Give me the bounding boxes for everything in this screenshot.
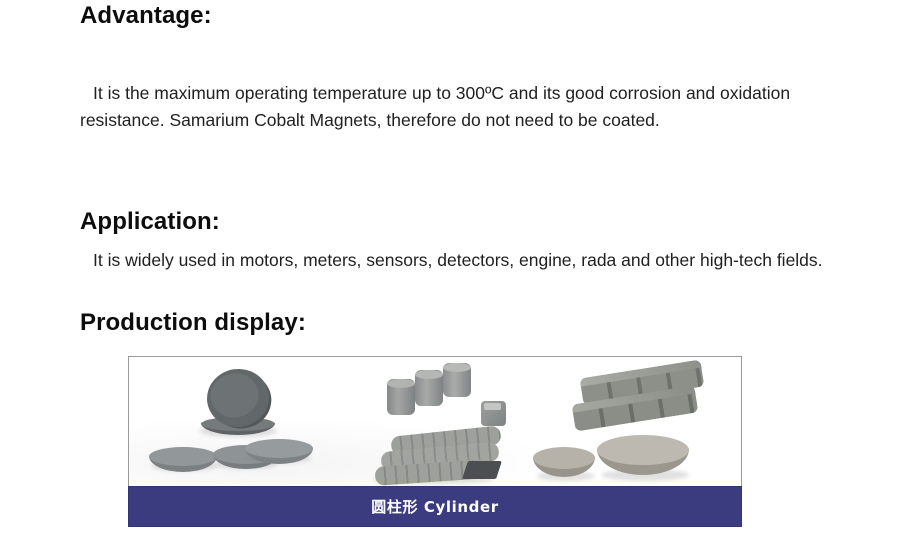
cylinder-row-highlight [580,360,702,387]
small-cylinder-3 [443,363,471,397]
product-figure: 圆柱形 Cylinder [128,356,742,527]
cylinder-top-face [415,370,443,379]
disc-top [533,447,595,469]
disc-top [149,447,217,466]
magnet-disc-1 [149,447,217,475]
small-cylinder-1-body [387,379,415,415]
dark-wedge [462,461,502,479]
disc-top [245,439,313,458]
small-cylinder-2 [415,370,443,406]
magnet-block [481,401,506,426]
photo-background [129,357,741,486]
cylinder-top-face [387,379,415,388]
magnet-small-disc [533,447,595,481]
disc-top [597,435,689,465]
section-heading-advantage: Advantage: [80,2,212,30]
section-heading-application: Application: [80,208,220,236]
product-photo [128,356,742,486]
section-body-advantage: It is the maximum operating temperature … [80,80,828,134]
cylinder-top-face [443,363,471,372]
advantage-text: It is the maximum operating temperature … [80,83,790,130]
magnet-disc-3 [245,439,313,467]
document-page: Advantage: It is the maximum operating t… [0,0,910,543]
figure-caption-text: 圆柱形 Cylinder [371,496,498,517]
disc-face-highlight [208,370,262,420]
figure-caption-bar: 圆柱形 Cylinder [128,486,742,527]
section-body-application: It is widely used in motors, meters, sen… [80,247,828,274]
magnet-large-disc [597,435,689,481]
application-text: It is widely used in motors, meters, sen… [93,250,823,270]
section-heading-production: Production display: [80,309,306,337]
block-highlight [484,403,501,410]
